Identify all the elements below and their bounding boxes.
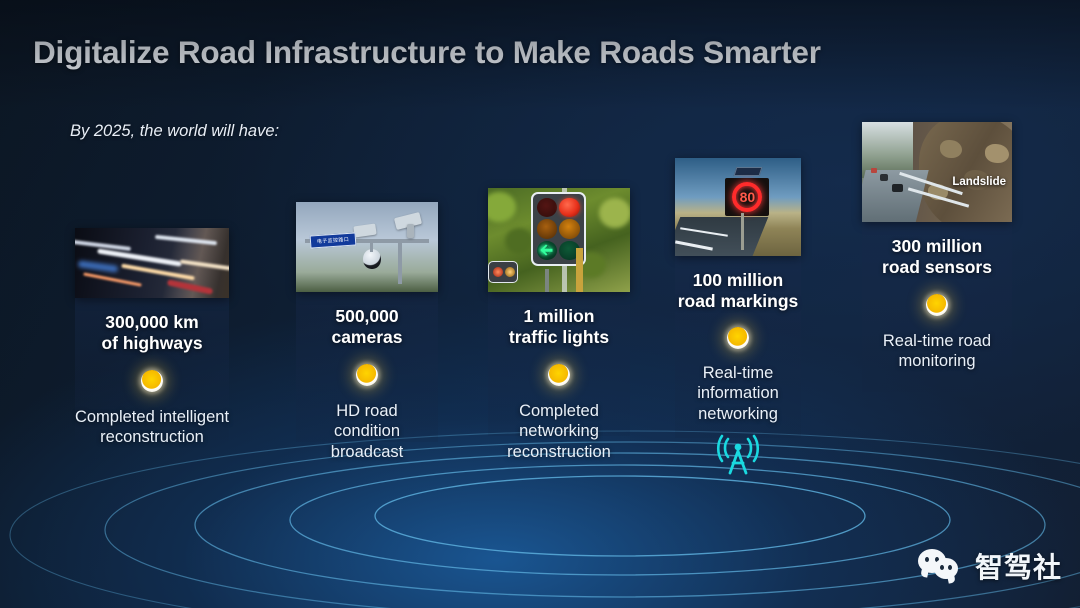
headline-line-2: road markings bbox=[675, 291, 801, 312]
slide-title: Digitalize Road Infrastructure to Make R… bbox=[33, 34, 821, 71]
caption-line-2: condition bbox=[296, 421, 438, 441]
caption-line-3: reconstruction bbox=[488, 442, 630, 462]
caption-line-3: broadcast bbox=[296, 442, 438, 462]
headline-line-2: traffic lights bbox=[488, 327, 630, 348]
wechat-logo-icon bbox=[918, 549, 964, 583]
green-left-arrow-lamp bbox=[537, 241, 558, 260]
watermark-text: 智驾社 bbox=[975, 546, 1062, 586]
speed-limit-value: 80 bbox=[732, 182, 762, 212]
glow-dot-icon bbox=[356, 364, 378, 386]
headline-line-2: cameras bbox=[296, 327, 438, 348]
headline-road-sensors: 300 million road sensors bbox=[862, 222, 1012, 279]
caption-line-2: information bbox=[675, 383, 801, 403]
photo-surveillance-cameras: 电子监控路口 bbox=[296, 202, 438, 292]
caption-road-sensors: Real-time road monitoring bbox=[847, 331, 1027, 372]
headline-line-1: 100 million bbox=[675, 270, 801, 291]
camera-sign-label: 电子监控路口 bbox=[310, 233, 357, 249]
photo-speed-limit-sign: 80 bbox=[675, 158, 801, 256]
caption-road-markings: Real-time information networking bbox=[675, 363, 801, 424]
photo-highway-traffic bbox=[75, 228, 229, 298]
glow-dot-icon bbox=[548, 364, 570, 386]
stat-column-road-sensors: Landslide 300 million road sensors Real-… bbox=[862, 122, 1012, 372]
caption-line-1: Completed bbox=[488, 401, 630, 421]
glow-dot-icon bbox=[727, 327, 749, 349]
stat-column-road-markings: 80 100 million road markings Real-time i… bbox=[675, 158, 801, 476]
stat-column-highways: 300,000 km of highways Completed intelli… bbox=[75, 228, 229, 448]
glow-dot-wrap bbox=[675, 313, 801, 363]
caption-line-2: reconstruction bbox=[52, 427, 252, 447]
caption-traffic-lights: Completed networking reconstruction bbox=[488, 401, 630, 462]
broadcast-tower-icon bbox=[715, 432, 761, 476]
solar-panel bbox=[734, 167, 763, 176]
caption-line-1: Real-time bbox=[675, 363, 801, 383]
headline-line-1: 500,000 bbox=[296, 306, 438, 327]
glow-dot-wrap bbox=[488, 349, 630, 401]
headline-line-2: of highways bbox=[75, 333, 229, 354]
photo-caption-landslide: Landslide bbox=[952, 176, 1006, 188]
headline-line-1: 300 million bbox=[862, 236, 1012, 257]
watermark: 智驾社 bbox=[918, 546, 1062, 586]
led-sign-board: 80 bbox=[725, 178, 769, 216]
caption-line-1: Completed intelligent bbox=[52, 407, 252, 427]
headline-line-2: road sensors bbox=[862, 257, 1012, 278]
slide-canvas: Digitalize Road Infrastructure to Make R… bbox=[0, 0, 1080, 608]
glow-dot-wrap bbox=[75, 355, 229, 407]
caption-highways: Completed intelligent reconstruction bbox=[52, 407, 252, 448]
headline-line-1: 300,000 km bbox=[75, 312, 229, 333]
caption-line-1: HD road bbox=[296, 401, 438, 421]
antenna-icon-wrap bbox=[675, 424, 801, 476]
slide-subtitle: By 2025, the world will have: bbox=[70, 122, 279, 141]
headline-line-1: 1 million bbox=[488, 306, 630, 327]
photo-landslide: Landslide bbox=[862, 122, 1012, 222]
headline-road-markings: 100 million road markings bbox=[675, 256, 801, 313]
caption-line-2: monitoring bbox=[847, 351, 1027, 371]
caption-line-2: networking bbox=[488, 421, 630, 441]
caption-line-1: Real-time road bbox=[847, 331, 1027, 351]
caption-cameras: HD road condition broadcast bbox=[296, 401, 438, 462]
caption-line-3: networking bbox=[675, 404, 801, 424]
headline-highways: 300,000 km of highways bbox=[75, 298, 229, 355]
glow-dot-wrap bbox=[296, 349, 438, 401]
headline-cameras: 500,000 cameras bbox=[296, 292, 438, 349]
stat-column-traffic-lights: 1 million traffic lights Completed netwo… bbox=[488, 188, 630, 462]
glow-dot-icon bbox=[926, 294, 948, 316]
headline-traffic-lights: 1 million traffic lights bbox=[488, 292, 630, 349]
glow-dot-icon bbox=[141, 370, 163, 392]
stat-column-cameras: 电子监控路口 500,000 cameras HD road condition… bbox=[296, 202, 438, 462]
glow-dot-wrap bbox=[862, 279, 1012, 331]
photo-traffic-light bbox=[488, 188, 630, 292]
